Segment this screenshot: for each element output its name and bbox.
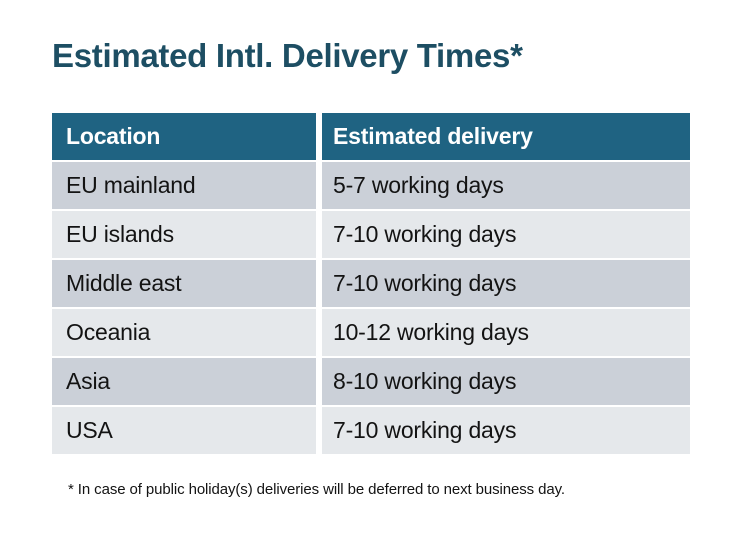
cell-estimated-delivery: 7-10 working days — [322, 260, 690, 307]
table-row: EU mainland 5-7 working days — [52, 162, 690, 209]
cell-location-text: EU mainland — [66, 172, 195, 199]
cell-location-text: Asia — [66, 368, 110, 395]
cell-estimated-delivery: 7-10 working days — [322, 211, 690, 258]
cell-location-text: Oceania — [66, 319, 150, 346]
cell-estimated-delivery-text: 7-10 working days — [333, 417, 516, 444]
delivery-times-page: Estimated Intl. Delivery Times* Location… — [0, 0, 745, 536]
cell-estimated-delivery: 10-12 working days — [322, 309, 690, 356]
cell-location-text: Middle east — [66, 270, 181, 297]
cell-location: Oceania — [52, 309, 316, 356]
table-header-row: Location Estimated delivery — [52, 113, 690, 160]
page-title: Estimated Intl. Delivery Times* — [52, 36, 523, 76]
cell-location: Asia — [52, 358, 316, 405]
cell-estimated-delivery: 5-7 working days — [322, 162, 690, 209]
header-label-estimated-delivery: Estimated delivery — [333, 123, 533, 150]
header-cell-location: Location — [52, 113, 316, 160]
cell-location: USA — [52, 407, 316, 454]
cell-estimated-delivery-text: 7-10 working days — [333, 270, 516, 297]
table-row: Middle east 7-10 working days — [52, 260, 690, 307]
table-row: Asia 8-10 working days — [52, 358, 690, 405]
header-cell-estimated-delivery: Estimated delivery — [322, 113, 690, 160]
footnote-text: * In case of public holiday(s) deliverie… — [68, 481, 565, 498]
cell-estimated-delivery-text: 10-12 working days — [333, 319, 529, 346]
cell-location: EU mainland — [52, 162, 316, 209]
cell-location-text: USA — [66, 417, 113, 444]
table-row: EU islands 7-10 working days — [52, 211, 690, 258]
cell-estimated-delivery-text: 7-10 working days — [333, 221, 516, 248]
delivery-times-table: Location Estimated delivery EU mainland … — [52, 113, 690, 456]
cell-location-text: EU islands — [66, 221, 174, 248]
cell-estimated-delivery-text: 8-10 working days — [333, 368, 516, 395]
cell-estimated-delivery-text: 5-7 working days — [333, 172, 504, 199]
table-row: USA 7-10 working days — [52, 407, 690, 454]
cell-location: Middle east — [52, 260, 316, 307]
header-label-location: Location — [66, 123, 160, 150]
cell-estimated-delivery: 7-10 working days — [322, 407, 690, 454]
cell-estimated-delivery: 8-10 working days — [322, 358, 690, 405]
cell-location: EU islands — [52, 211, 316, 258]
table-row: Oceania 10-12 working days — [52, 309, 690, 356]
